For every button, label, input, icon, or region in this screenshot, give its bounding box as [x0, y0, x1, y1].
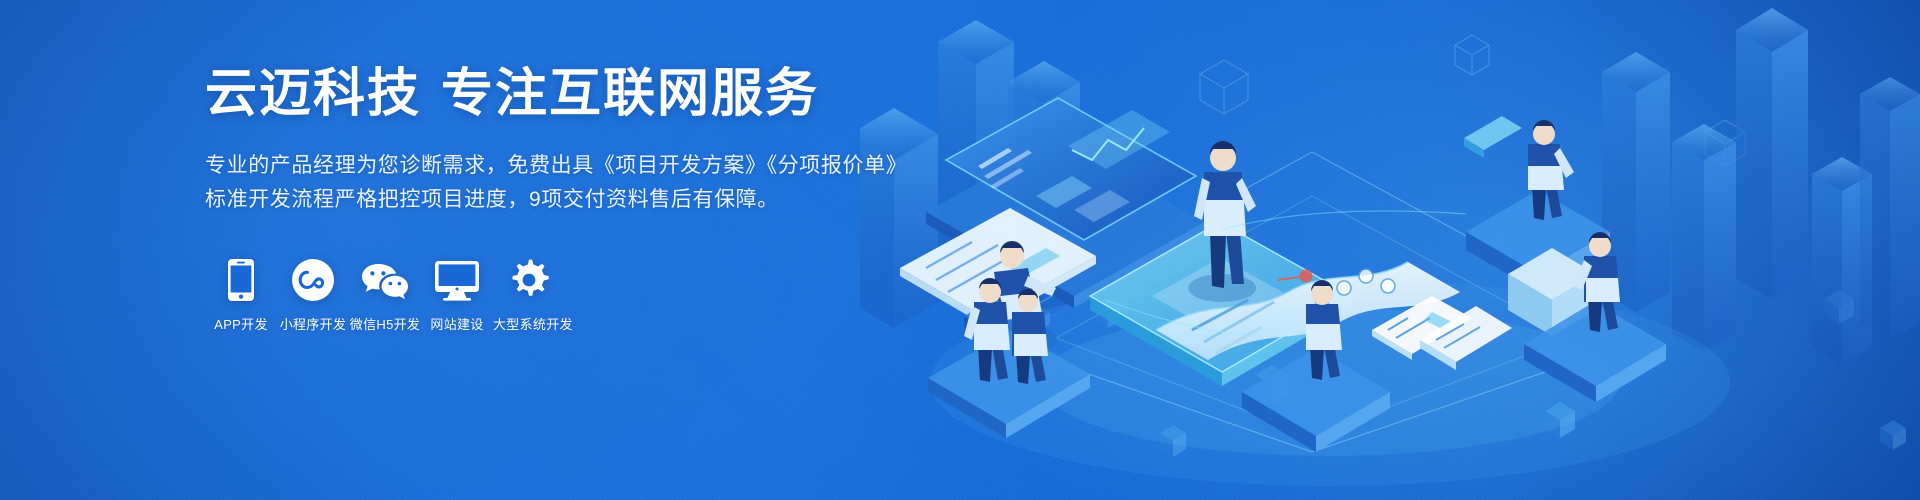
service-item-wechat-h5[interactable]: 微信H5开发 — [349, 255, 421, 333]
service-label: 网站建设 — [421, 314, 493, 333]
page-title: 云迈科技专注互联网服务 — [205, 66, 965, 123]
wechat-icon — [349, 255, 421, 301]
mobile-phone-icon — [205, 255, 277, 301]
service-label: 微信H5开发 — [349, 314, 421, 333]
service-label: 大型系统开发 — [493, 314, 565, 333]
hero-banner: 云迈科技专注互联网服务 专业的产品经理为您诊断需求，免费出具《项目开发方案》《分… — [0, 0, 1920, 500]
service-item-large-system[interactable]: 大型系统开发 — [493, 255, 565, 333]
banner-copy: 云迈科技专注互联网服务 专业的产品经理为您诊断需求，免费出具《项目开发方案》《分… — [205, 66, 965, 333]
service-item-app[interactable]: APP开发 — [205, 255, 277, 333]
monitor-icon — [421, 255, 493, 301]
service-label: APP开发 — [205, 314, 277, 333]
isometric-tech-team-illustration — [860, 0, 1920, 500]
subtitle-line-2: 标准开发流程严格把控项目进度，9项交付资料售后有保障。 — [205, 183, 965, 217]
service-item-website[interactable]: 网站建设 — [421, 255, 493, 333]
gear-icon — [493, 255, 565, 301]
service-label: 小程序开发 — [277, 314, 349, 333]
mini-program-icon — [277, 255, 349, 301]
service-item-miniprogram[interactable]: 小程序开发 — [277, 255, 349, 333]
title-brand: 云迈科技 — [205, 65, 421, 123]
subtitle-line-1: 专业的产品经理为您诊断需求，免费出具《项目开发方案》《分项报价单》 — [205, 149, 965, 183]
title-tagline: 专注互联网服务 — [441, 65, 819, 123]
banner-subtitle: 专业的产品经理为您诊断需求，免费出具《项目开发方案》《分项报价单》 标准开发流程… — [205, 149, 965, 217]
service-icon-row: APP开发 小程序开发 — [205, 255, 965, 333]
